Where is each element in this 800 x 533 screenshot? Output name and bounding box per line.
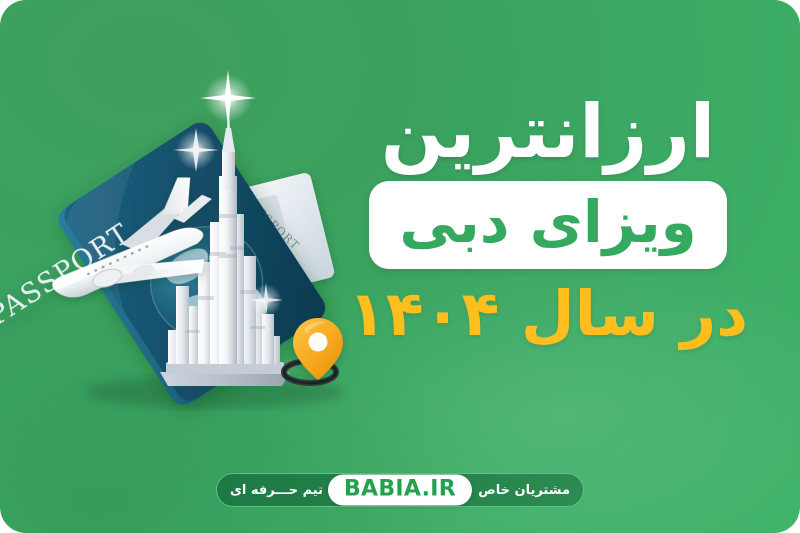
brand-text: BABIA.IR [344,479,456,501]
footer-right-text: مشتریان خاص [478,483,570,498]
headline-block: ارزانترین ویزای دبی در سال ۱۴۰۴ [338,96,758,345]
headline-text: ارزانترین [338,96,758,169]
brand-pill[interactable]: BABIA.IR [328,475,472,506]
visa-pill: ویزای دبی [369,181,726,269]
footer-left-text: تیم حـــرفه ای [230,483,323,498]
sparkle-icon-spire [200,70,256,126]
passport-booklet: PASSPORT COUNTRY [0,117,330,468]
pill-wrapper: ویزای دبی [338,181,758,269]
subline-text: در سال ۱۴۰۴ [338,283,758,345]
footer-bar: مشتریان خاص تیم حـــرفه ای BABIA.IR [216,473,584,507]
promo-banner: PASSPORT PASSPORT COUNTRY [0,0,800,533]
